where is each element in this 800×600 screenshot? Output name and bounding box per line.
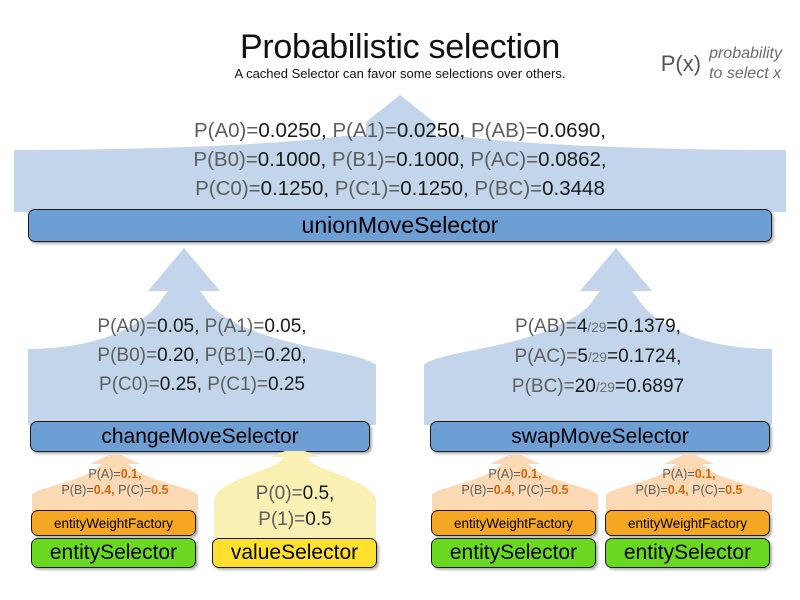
entity-prob-label: P(C)= <box>692 483 725 497</box>
swap-prob-value: 0.1379, <box>618 316 681 337</box>
swap-prob-label: P(BC)= <box>512 376 575 397</box>
value-prob-label: P(1)= <box>258 509 305 530</box>
entity-group-3-probabilities: P(A)=0.1, P(B)=0.4, P(C)=0.5 <box>602 466 776 498</box>
change-prob-value: 0.25 <box>268 374 305 395</box>
change-prob-label: P(B0)= <box>97 345 157 366</box>
value-prob-value: 0.5, <box>303 483 335 504</box>
change-prob-label: P(B1)= <box>205 345 265 366</box>
union-probabilities: P(A0)=0.0250, P(A1)=0.0250, P(AB)=0.0690… <box>14 116 786 203</box>
legend-line-1: probability <box>709 44 782 64</box>
swap-prob-numerator: 20 <box>575 376 596 397</box>
swap-move-selector-label: swapMoveSelector <box>511 425 688 449</box>
entity-prob-label: P(C)= <box>518 483 551 497</box>
entity-prob-row: P(B)=0.4, P(C)=0.5 <box>28 482 202 498</box>
union-prob-row: P(A0)=0.0250, P(A1)=0.0250, P(AB)=0.0690… <box>14 116 786 145</box>
change-prob-label: P(C0)= <box>99 374 160 395</box>
swap-prob-denominator: /29 <box>596 380 615 395</box>
change-move-selector-box[interactable]: changeMoveSelector <box>30 421 370 452</box>
entity-weight-factory-box-2[interactable]: entityWeightFactory <box>431 510 596 536</box>
value-selector-box[interactable]: valueSelector <box>212 538 377 568</box>
union-prob-label: P(C0)= <box>195 177 261 200</box>
entity-prob-label: P(A)= <box>662 467 694 481</box>
entity-prob-label: P(B)= <box>635 483 667 497</box>
value-group-probabilities: P(0)=0.5, P(1)=0.5 <box>206 481 384 533</box>
union-prob-value: 0.0862, <box>538 148 606 171</box>
union-prob-value: 0.1000, <box>258 148 326 171</box>
change-move-selector-label: changeMoveSelector <box>101 425 298 449</box>
entity-prob-value: 0.5 <box>151 483 168 497</box>
union-move-selector-label: unionMoveSelector <box>302 212 499 239</box>
entity-prob-value: 0.4, <box>668 483 689 497</box>
union-prob-label: P(AC)= <box>470 148 538 171</box>
change-prob-row: P(C0)=0.25, P(C1)=0.25 <box>28 370 376 399</box>
value-prob-label: P(0)= <box>256 483 303 504</box>
swap-move-selector-box[interactable]: swapMoveSelector <box>430 421 770 452</box>
swap-probabilities: P(AB)=4/29=0.1379, P(AC)=5/29=0.1724, P(… <box>424 312 772 402</box>
change-prob-value: 0.20, <box>264 345 306 366</box>
union-prob-label: P(A1)= <box>332 119 396 142</box>
union-prob-row: P(C0)=0.1250, P(C1)=0.1250, P(BC)=0.3448 <box>14 174 786 203</box>
value-prob-row: P(0)=0.5, <box>206 481 384 507</box>
swap-prob-value: 0.1724, <box>618 346 681 367</box>
entity-prob-label: P(A)= <box>88 467 120 481</box>
union-prob-label: P(B0)= <box>193 148 257 171</box>
value-selector-label: valueSelector <box>231 541 358 565</box>
change-prob-value: 0.05, <box>157 316 199 337</box>
swap-prob-row: P(AC)=5/29=0.1724, <box>424 342 772 372</box>
entity-prob-row: P(A)=0.1, <box>428 466 602 482</box>
legend-symbol: P(x) <box>661 51 701 77</box>
entity-prob-value: 0.5 <box>725 483 742 497</box>
entity-prob-row: P(B)=0.4, P(C)=0.5 <box>602 482 776 498</box>
entity-selector-label: entitySelector <box>450 541 577 565</box>
entity-weight-factory-box-1[interactable]: entityWeightFactory <box>31 510 196 536</box>
entity-prob-value: 0.5 <box>551 483 568 497</box>
union-prob-value: 0.1000, <box>396 148 464 171</box>
union-prob-row: P(B0)=0.1000, P(B1)=0.1000, P(AC)=0.0862… <box>14 145 786 174</box>
entity-selector-label: entitySelector <box>50 541 177 565</box>
change-prob-row: P(B0)=0.20, P(B1)=0.20, <box>28 341 376 370</box>
swap-prob-label: P(AB)= <box>515 316 577 337</box>
entity-prob-row: P(B)=0.4, P(C)=0.5 <box>428 482 602 498</box>
union-prob-value: 0.3448 <box>542 177 605 200</box>
union-prob-label: P(C1)= <box>335 177 401 200</box>
legend: P(x) probability to select x <box>661 44 782 83</box>
union-prob-label: P(BC)= <box>474 177 542 200</box>
diagram-canvas: { "header": { "title": "Probabilistic se… <box>0 0 800 600</box>
entity-selector-label: entitySelector <box>624 541 751 565</box>
union-prob-value: 0.1250, <box>400 177 468 200</box>
entity-prob-value: 0.4, <box>94 483 115 497</box>
entity-group-1-probabilities: P(A)=0.1, P(B)=0.4, P(C)=0.5 <box>28 466 202 498</box>
entity-weight-factory-label: entityWeightFactory <box>454 516 573 531</box>
entity-weight-factory-label: entityWeightFactory <box>628 516 747 531</box>
value-prob-row: P(1)=0.5 <box>206 507 384 533</box>
legend-line-2: to select x <box>709 64 782 84</box>
change-prob-value: 0.25, <box>160 374 202 395</box>
entity-prob-label: P(A)= <box>488 467 520 481</box>
union-prob-label: P(A0)= <box>194 119 258 142</box>
entity-prob-row: P(A)=0.1, <box>602 466 776 482</box>
entity-selector-box-2[interactable]: entitySelector <box>431 538 596 568</box>
entity-weight-factory-box-3[interactable]: entityWeightFactory <box>605 510 770 536</box>
swap-prob-value: 0.6897 <box>626 376 684 397</box>
entity-prob-label: P(B)= <box>461 483 493 497</box>
entity-prob-value: 0.1, <box>695 467 716 481</box>
change-prob-label: P(A0)= <box>97 316 157 337</box>
swap-prob-denominator: /29 <box>588 350 607 365</box>
change-prob-value: 0.05, <box>264 316 306 337</box>
entity-prob-value: 0.1, <box>521 467 542 481</box>
swap-prob-numerator: 5 <box>577 346 588 367</box>
swap-prob-label: P(AC)= <box>515 346 578 367</box>
entity-prob-value: 0.4, <box>494 483 515 497</box>
change-prob-label: P(C1)= <box>207 374 268 395</box>
change-prob-row: P(A0)=0.05, P(A1)=0.05, <box>28 312 376 341</box>
value-prob-value: 0.5 <box>305 509 331 530</box>
legend-description: probability to select x <box>709 44 782 83</box>
entity-selector-box-1[interactable]: entitySelector <box>31 538 196 568</box>
entity-selector-box-3[interactable]: entitySelector <box>605 538 770 568</box>
change-prob-value: 0.20, <box>157 345 199 366</box>
entity-weight-factory-label: entityWeightFactory <box>54 516 173 531</box>
swap-prob-row: P(AB)=4/29=0.1379, <box>424 312 772 342</box>
union-prob-value: 0.0690, <box>538 119 606 142</box>
entity-prob-label: P(C)= <box>118 483 151 497</box>
entity-prob-label: P(B)= <box>61 483 93 497</box>
swap-prob-row: P(BC)=20/29=0.6897 <box>424 372 772 402</box>
union-prob-label: P(B1)= <box>332 148 396 171</box>
union-prob-value: 0.0250, <box>258 119 326 142</box>
change-prob-label: P(A1)= <box>205 316 265 337</box>
swap-prob-denominator: /29 <box>587 320 606 335</box>
union-prob-value: 0.0250, <box>397 119 465 142</box>
change-probabilities: P(A0)=0.05, P(A1)=0.05, P(B0)=0.20, P(B1… <box>28 312 376 399</box>
union-move-selector-box[interactable]: unionMoveSelector <box>28 209 772 242</box>
union-prob-value: 0.1250, <box>261 177 329 200</box>
entity-prob-value: 0.1, <box>121 467 142 481</box>
entity-prob-row: P(A)=0.1, <box>28 466 202 482</box>
entity-group-2-probabilities: P(A)=0.1, P(B)=0.4, P(C)=0.5 <box>428 466 602 498</box>
swap-prob-numerator: 4 <box>577 316 588 337</box>
union-prob-label: P(AB)= <box>471 119 538 142</box>
